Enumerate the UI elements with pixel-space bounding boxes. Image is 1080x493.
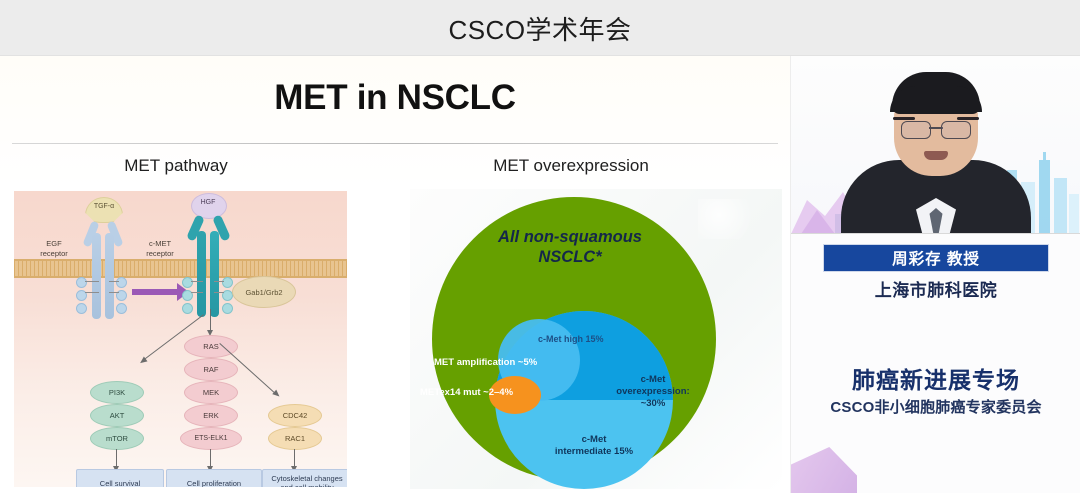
eyebrow-left-icon <box>893 117 915 120</box>
speaker-name-banner: 周彩存 教授 <box>824 245 1048 271</box>
met-overexpression-venn-chart: All non-squamous NSCLC* MET amplificatio… <box>410 189 782 489</box>
egf-stalk-right-icon <box>105 233 114 319</box>
tgf-alpha-ligand-icon <box>85 197 123 223</box>
panel-label-met-overexpression: MET overexpression <box>352 156 790 176</box>
gab1-grb2-label: Gab1/Grb2 <box>245 288 282 297</box>
node-mtor: mTOR <box>90 427 144 450</box>
egf-phospho-dots-right <box>116 277 126 316</box>
video-feed[interactable] <box>791 56 1080 234</box>
slide-title: MET in NSCLC <box>0 78 790 118</box>
arrow-to-cell-proliferation <box>210 449 211 467</box>
egf-receptor-label-line1: EGF <box>28 239 80 248</box>
presentation-slide: MET in NSCLC MET pathway MET overexpress… <box>0 56 790 493</box>
venn-label-cmet-inter-line2: intermediate 15% <box>535 446 653 458</box>
outcome-cytoskeletal-changes: Cytoskeletal changes and cell mobility <box>262 469 347 487</box>
node-erk: ERK <box>184 404 238 427</box>
met-phospho-dots-left <box>182 277 192 316</box>
outcome-cell-proliferation: Cell proliferation <box>166 469 262 487</box>
decor-wedge-graphic <box>791 447 857 493</box>
tgf-alpha-label: TGF-α <box>84 203 124 210</box>
egf-receptor-label-line2: receptor <box>28 249 80 258</box>
committee-name: CSCO非小细胞肺癌专家委员会 <box>791 396 1080 417</box>
node-ets-elk1: ETS-ELK1 <box>180 427 242 450</box>
venn-label-cmet-inter-line1: c-Met <box>535 434 653 446</box>
arrow-to-cytoskeletal <box>294 449 295 467</box>
screen-root: CSCO学术年会 MET in NSCLC MET pathway MET ov… <box>0 0 1080 493</box>
met-link-3 <box>214 281 224 282</box>
title-divider <box>12 143 778 144</box>
c-met-receptor-label-line1: c-MET <box>134 239 186 248</box>
cell-membrane <box>14 259 347 278</box>
venn-label-cmet-over-line2: overexpression: <box>610 386 696 398</box>
venn-label-cmet-high: c-Met high 15% <box>538 334 658 344</box>
met-link-1 <box>191 281 203 282</box>
eyebrow-right-icon <box>957 117 979 120</box>
session-title: 肺癌新进展专场 <box>791 361 1080 395</box>
egf-link-2 <box>85 292 99 293</box>
egf-link-1 <box>85 281 99 282</box>
video-divider <box>791 233 1080 234</box>
hair-icon <box>892 72 980 114</box>
mouth-icon <box>924 151 948 160</box>
node-cdc42: CDC42 <box>268 404 322 427</box>
outcome-cell-survival: Cell survival <box>76 469 164 487</box>
signal-arrow-down <box>210 309 211 331</box>
met-stalk-left-icon <box>197 231 206 317</box>
speaker-figure <box>841 84 1031 234</box>
node-akt: AKT <box>90 404 144 427</box>
venn-label-cmet-over-line3: ~30% <box>610 398 696 410</box>
venn-label-cmet-intermediate: c-Met intermediate 15% <box>535 434 653 458</box>
speaker-name: 周彩存 教授 <box>892 247 980 269</box>
header-title: CSCO学术年会 <box>448 10 631 47</box>
met-phospho-dots-right <box>222 277 232 316</box>
node-raf: RAF <box>184 358 238 381</box>
node-ras: RAS <box>184 335 238 358</box>
outcome-cytoskeletal-line2: and cell mobility <box>280 484 333 487</box>
speaker-video-panel[interactable]: 周彩存 教授 上海市肺科医院 肺癌新进展专场 CSCO非小细胞肺癌专家委员会 <box>790 56 1080 493</box>
gab1-grb2-node: Gab1/Grb2 <box>232 276 296 308</box>
venn-label-cmet-over-line1: c-Met <box>610 374 696 386</box>
met-pathway-figure: TGF-α EGF receptor <box>14 191 347 487</box>
egf-stalk-left-icon <box>92 233 101 319</box>
app-header: CSCO学术年会 <box>0 0 1080 56</box>
venn-title-line2: NSCLC* <box>450 247 690 267</box>
c-met-receptor-label-line2: receptor <box>134 249 186 258</box>
venn-highlight-gloss <box>698 199 768 239</box>
venn-label-cmet-overexpression: c-Met overexpression: ~30% <box>610 374 696 410</box>
egf-link-3 <box>109 281 119 282</box>
venn-label-met-amplification: MET amplification ~5% <box>434 357 584 368</box>
venn-title-line1: All non-squamous <box>450 227 690 247</box>
arrow-to-cell-survival <box>116 449 117 467</box>
glasses-icon <box>901 121 971 138</box>
hgf-label: HGF <box>188 199 228 206</box>
venn-title: All non-squamous NSCLC* <box>450 227 690 267</box>
transition-arrow-icon <box>132 289 178 295</box>
node-rac1: RAC1 <box>268 427 322 450</box>
met-link-2 <box>191 292 203 293</box>
panel-label-met-pathway: MET pathway <box>0 156 352 176</box>
met-stalk-right-icon <box>210 231 219 317</box>
venn-label-metex14-mut: METex14 mut ~2–4% <box>420 387 560 398</box>
speaker-affiliation: 上海市肺科医院 <box>791 276 1080 301</box>
met-link-4 <box>214 292 224 293</box>
lipid-bilayer-icon <box>14 261 347 276</box>
node-pi3k: PI3K <box>90 381 144 404</box>
node-mek: MEK <box>184 381 238 404</box>
egf-link-4 <box>109 292 119 293</box>
egf-phospho-dots-left <box>76 277 86 316</box>
